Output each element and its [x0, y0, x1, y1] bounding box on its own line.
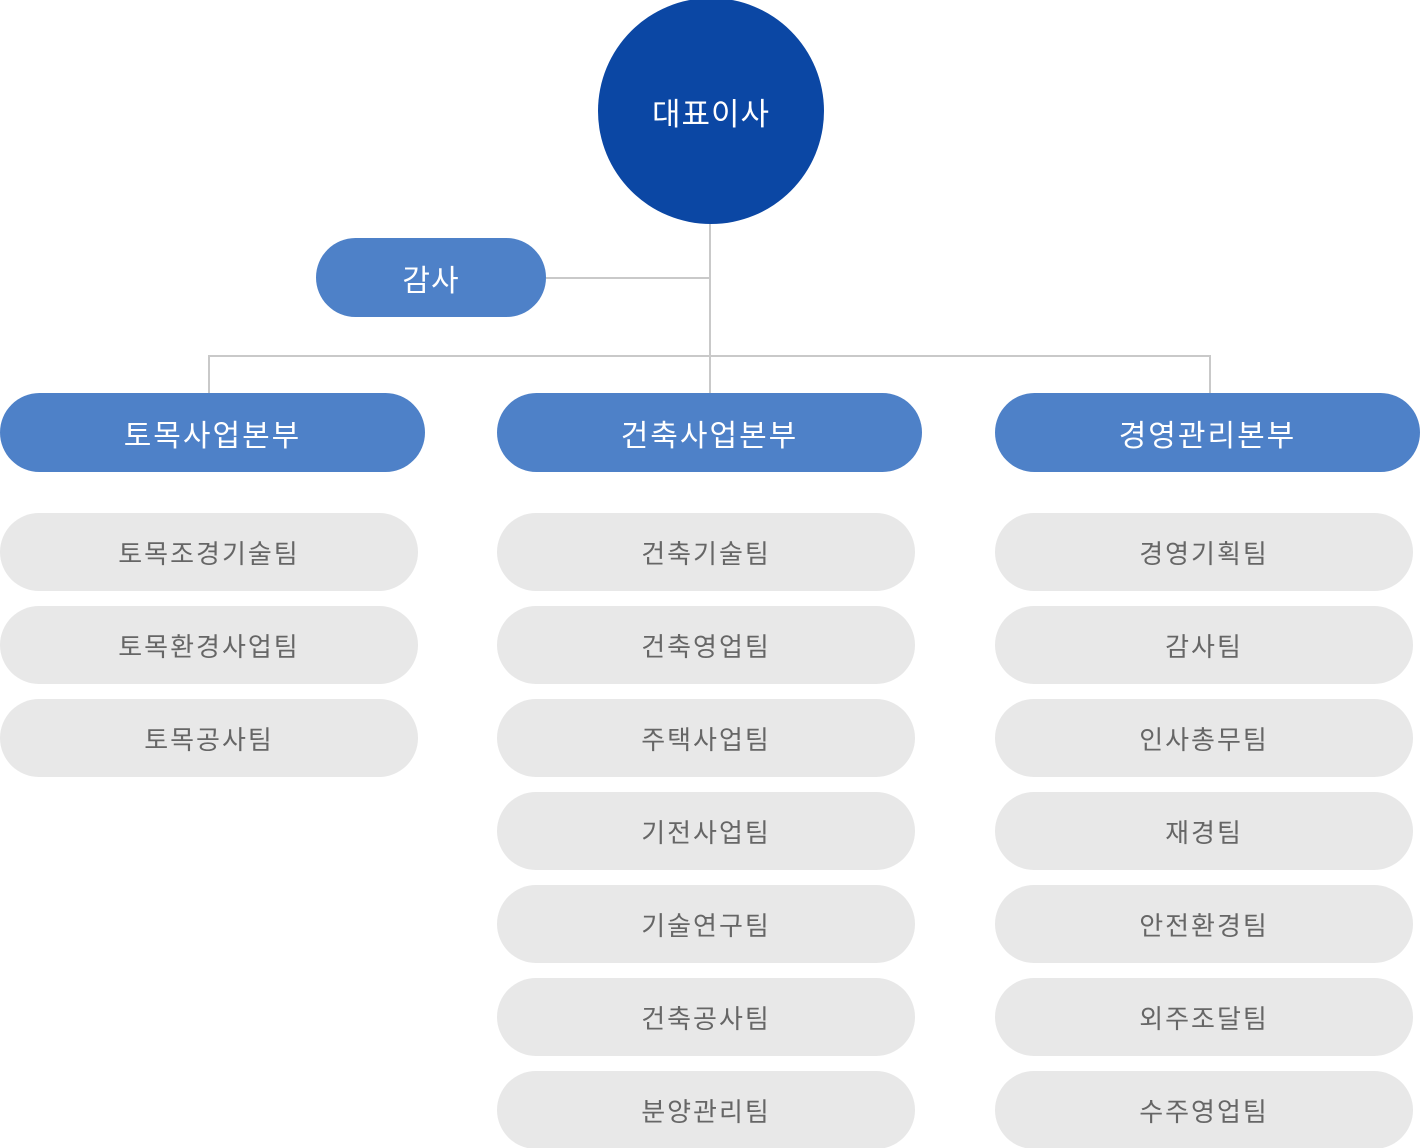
team-label: 재경팀 [1165, 813, 1243, 850]
connector-division-drop-left [208, 355, 210, 394]
division-node[interactable]: 건축사업본부 [497, 393, 922, 472]
team-label: 안전환경팀 [1139, 906, 1269, 943]
team-label: 분양관리팀 [641, 1092, 771, 1129]
audit-node[interactable]: 감사 [316, 238, 546, 317]
division-column-architecture: 건축사업본부 건축기술팀 건축영업팀 주택사업팀 기전사업팀 기술연구팀 [497, 393, 922, 1148]
team-label: 기전사업팀 [641, 813, 771, 850]
division-node[interactable]: 토목사업본부 [0, 393, 425, 472]
team-label: 경영기획팀 [1139, 534, 1269, 571]
connector-division-drop-right [1209, 355, 1211, 394]
team-label: 외주조달팀 [1139, 999, 1269, 1036]
team-node[interactable]: 감사팀 [995, 606, 1413, 684]
team-label: 건축기술팀 [641, 534, 771, 571]
team-node[interactable]: 재경팀 [995, 792, 1413, 870]
team-node[interactable]: 기전사업팀 [497, 792, 915, 870]
ceo-label: 대표이사 [652, 89, 770, 134]
team-node[interactable]: 외주조달팀 [995, 978, 1413, 1056]
team-list: 건축기술팀 건축영업팀 주택사업팀 기전사업팀 기술연구팀 건축공사팀 [497, 513, 922, 1148]
team-node[interactable]: 건축공사팀 [497, 978, 915, 1056]
team-label: 토목공사팀 [144, 720, 274, 757]
team-label: 주택사업팀 [641, 720, 771, 757]
team-label: 감사팀 [1165, 627, 1243, 664]
team-label: 건축영업팀 [641, 627, 771, 664]
team-label: 기술연구팀 [641, 906, 771, 943]
connector-ceo-vertical [709, 222, 711, 394]
team-node[interactable]: 수주영업팀 [995, 1071, 1413, 1148]
team-list: 토목조경기술팀 토목환경사업팀 토목공사팀 [0, 513, 425, 777]
division-label: 경영관리본부 [1119, 411, 1297, 455]
team-list: 경영기획팀 감사팀 인사총무팀 재경팀 안전환경팀 외주조달팀 [995, 513, 1420, 1148]
team-node[interactable]: 기술연구팀 [497, 885, 915, 963]
team-label: 인사총무팀 [1139, 720, 1269, 757]
connector-audit-horizontal [546, 277, 710, 279]
team-node[interactable]: 건축영업팀 [497, 606, 915, 684]
team-label: 토목환경사업팀 [118, 627, 299, 664]
division-column-management: 경영관리본부 경영기획팀 감사팀 인사총무팀 재경팀 안전환경팀 [995, 393, 1420, 1148]
team-node[interactable]: 안전환경팀 [995, 885, 1413, 963]
team-label: 수주영업팀 [1139, 1092, 1269, 1129]
team-node[interactable]: 분양관리팀 [497, 1071, 915, 1148]
team-node[interactable]: 인사총무팀 [995, 699, 1413, 777]
audit-label: 감사 [402, 256, 459, 300]
team-label: 토목조경기술팀 [118, 534, 299, 571]
org-chart: 대표이사 감사 토목사업본부 토목조경기술팀 토목환경사업팀 토목공사팀 [0, 0, 1420, 1148]
team-node[interactable]: 경영기획팀 [995, 513, 1413, 591]
division-node[interactable]: 경영관리본부 [995, 393, 1420, 472]
division-column-civil: 토목사업본부 토목조경기술팀 토목환경사업팀 토목공사팀 [0, 393, 425, 792]
division-label: 토목사업본부 [124, 411, 302, 455]
team-node[interactable]: 토목환경사업팀 [0, 606, 418, 684]
connector-division-bus [208, 355, 1211, 357]
team-node[interactable]: 주택사업팀 [497, 699, 915, 777]
ceo-node[interactable]: 대표이사 [598, 0, 824, 224]
team-node[interactable]: 토목공사팀 [0, 699, 418, 777]
team-node[interactable]: 건축기술팀 [497, 513, 915, 591]
division-label: 건축사업본부 [621, 411, 799, 455]
team-node[interactable]: 토목조경기술팀 [0, 513, 418, 591]
team-label: 건축공사팀 [641, 999, 771, 1036]
